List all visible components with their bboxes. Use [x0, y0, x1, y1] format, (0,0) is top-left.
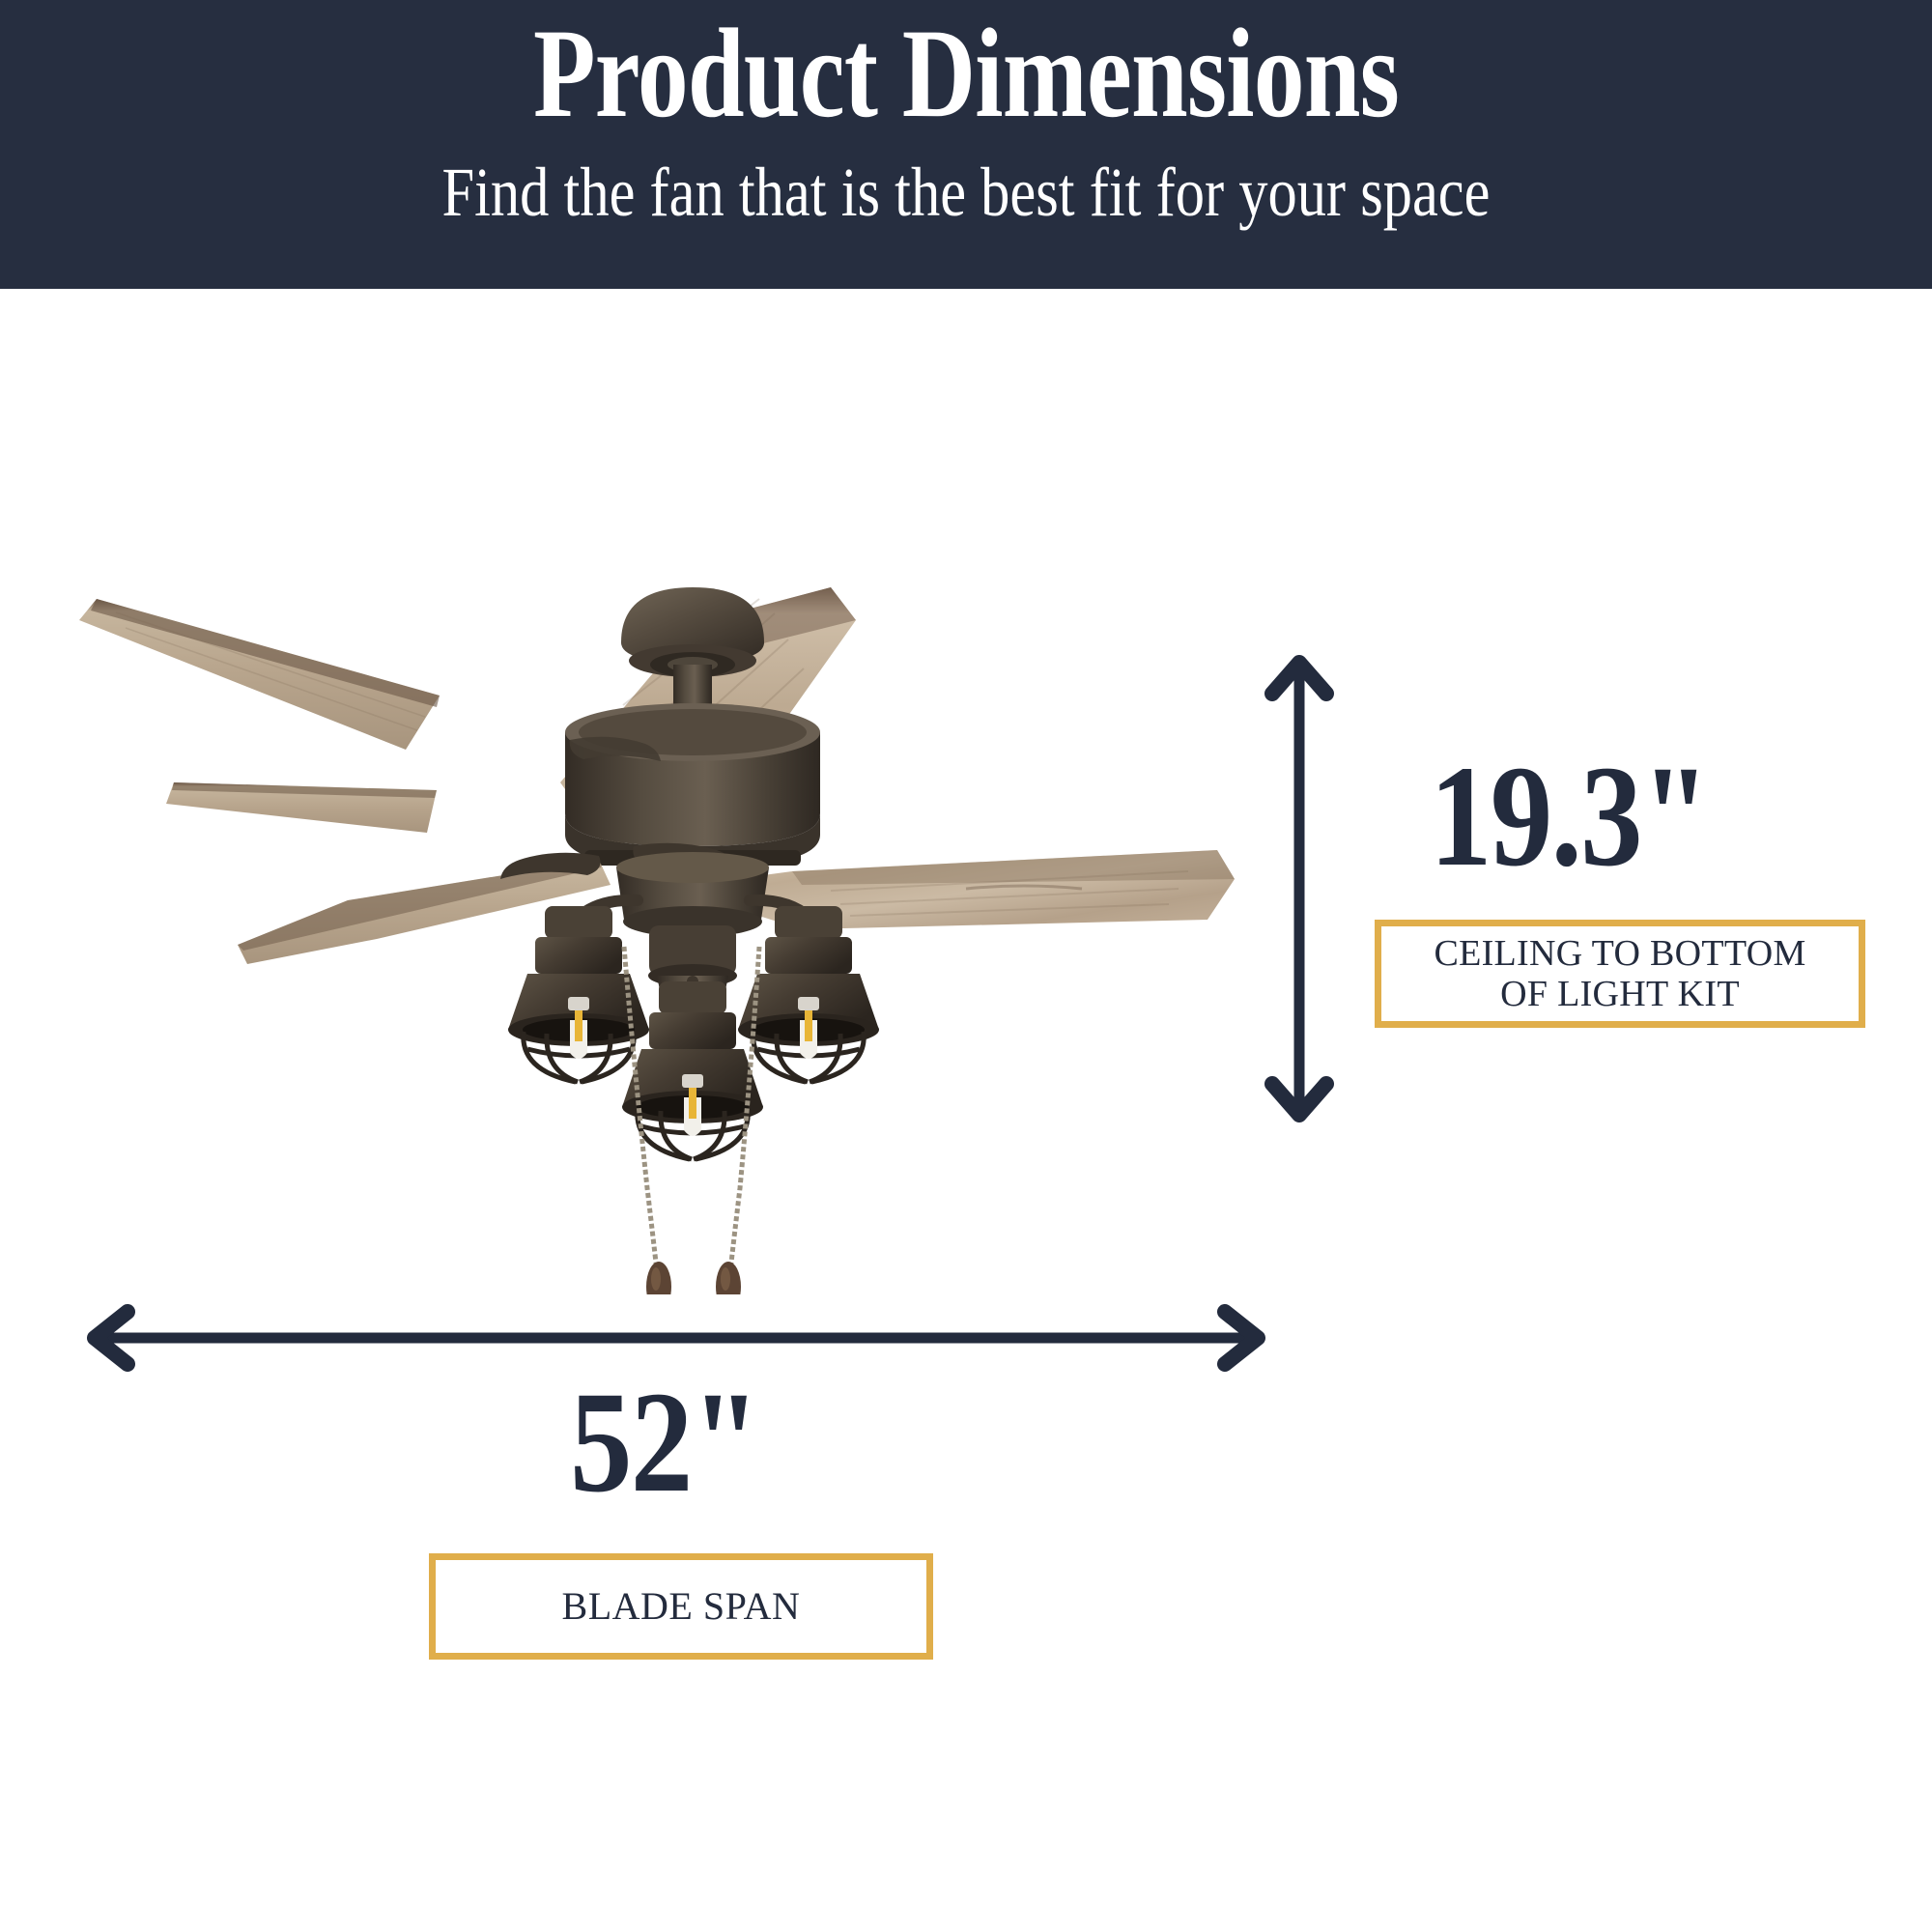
page-title: Product Dimensions: [193, 6, 1739, 141]
horizontal-dimension-label-box: BLADE SPAN: [429, 1553, 933, 1660]
fan-motor-housing: [565, 703, 820, 867]
horizontal-dimension-value: 52": [570, 1370, 758, 1515]
vertical-dimension-label-text: CEILING TO BOTTOM OF LIGHT KIT: [1434, 933, 1805, 1014]
horizontal-dimension-label-text: BLADE SPAN: [562, 1585, 801, 1628]
vertical-dimension-label-box: CEILING TO BOTTOM OF LIGHT KIT: [1375, 920, 1865, 1028]
fan-blade-upper-left: [79, 599, 440, 750]
vertical-dimension-arrow: [1256, 647, 1343, 1130]
product-dimensions-infographic: Product Dimensions Find the fan that is …: [0, 0, 1932, 1932]
fan-canopy: [621, 587, 764, 677]
ceiling-fan-illustration: [58, 560, 1246, 1294]
fan-light-shade-right: [738, 906, 879, 1082]
vertical-dimension-value: 19.3": [1430, 744, 1709, 889]
page-subtitle: Find the fan that is the best fit for yo…: [155, 153, 1777, 232]
fan-blade-lower-left: [166, 782, 437, 833]
